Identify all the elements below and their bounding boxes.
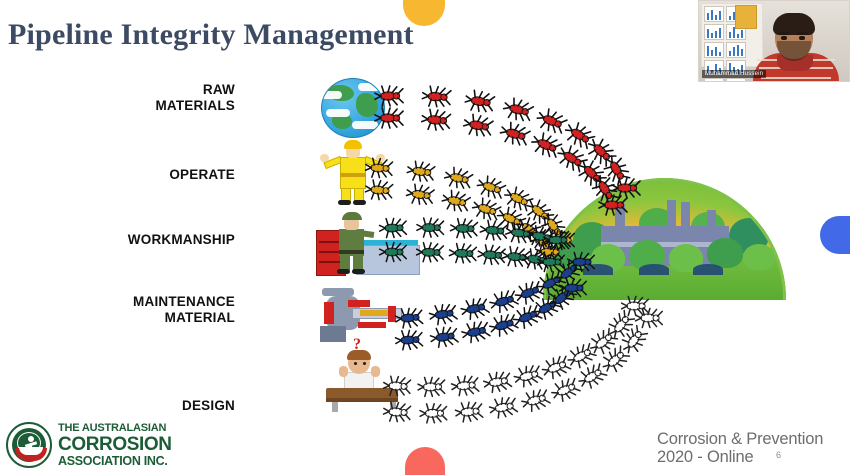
aca-logo: THE AUSTRALASIAN CORROSION ASSOCIATION I… (6, 420, 186, 470)
stage-label-workmanship: WORKMANSHIP (35, 232, 235, 248)
pump-icon (318, 288, 410, 344)
stage-label-design: DESIGN (35, 398, 235, 414)
aca-logo-line1: THE AUSTRALASIAN (58, 423, 172, 434)
mechanic-bench-icon (330, 212, 376, 274)
stage-label-maintenance-material: MAINTENANCE MATERIAL (35, 294, 235, 326)
participant-name-label: Muhammad Hussein (702, 70, 766, 78)
decor-bottom-blob (405, 447, 445, 475)
webcam-video-tile[interactable]: Muhammad Hussein (698, 0, 850, 82)
aca-logo-line3: ASSOCIATION INC. (58, 455, 172, 468)
stage-label-operate: OPERATE (35, 167, 235, 183)
environment-dome (543, 178, 786, 300)
slide-number: 6 (776, 450, 781, 460)
footer-line-1: Corrosion & Prevention (657, 430, 823, 448)
stage-label-raw-materials: RAW MATERIALS (35, 82, 235, 114)
operator-worker-icon (326, 140, 380, 206)
earth-globe-icon (321, 78, 385, 138)
conference-footer: Corrosion & Prevention 2020 - Online (657, 430, 823, 467)
decor-right-blob (820, 216, 850, 254)
presentation-slide: Pipeline Integrity Management (0, 0, 850, 475)
footer-line-2: 2020 - Online (657, 448, 823, 466)
thinking-designer-icon: ? (330, 348, 390, 404)
page-title: Pipeline Integrity Management (8, 18, 414, 52)
aca-logo-line2: CORROSION (58, 435, 172, 454)
aca-emblem-icon (6, 422, 52, 468)
